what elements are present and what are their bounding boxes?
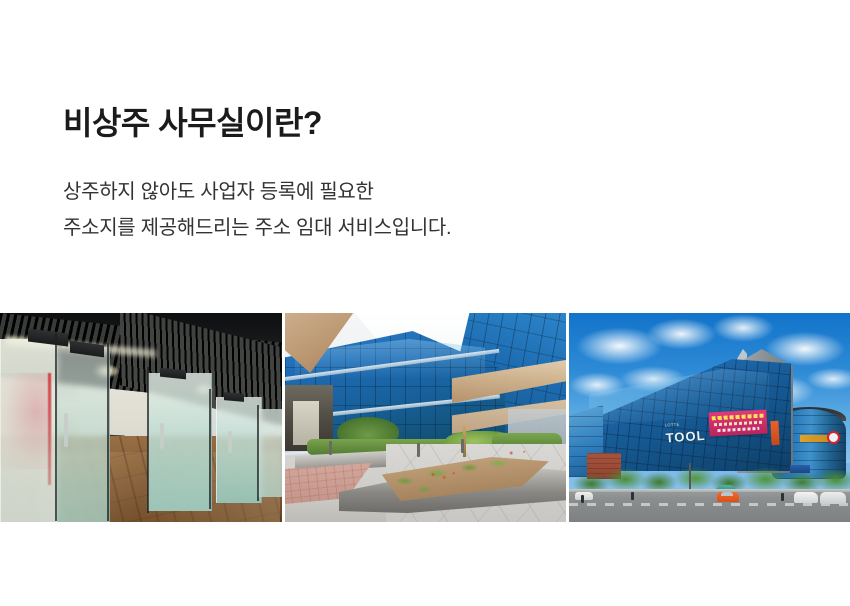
photo3-white-car-1 (794, 492, 818, 503)
intro-description: 상주하지 않아도 사업자 등록에 필요한 주소지를 제공해드리는 주소 임대 서… (63, 143, 763, 246)
photo1-door-handle-2 (160, 423, 164, 449)
intro-description-line-1: 상주하지 않아도 사업자 등록에 필요한 (63, 174, 763, 210)
photo3-road-marking (569, 503, 850, 506)
landing-page-section: 비상주 사무실이란? 상주하지 않아도 사업자 등록에 필요한 주소지를 제공해… (0, 0, 850, 606)
photo1-glass-partition-5 (258, 409, 282, 497)
photo1-mullion-3 (147, 367, 149, 513)
photo2-bollard-2 (417, 443, 420, 457)
photo1-mullion-5 (257, 405, 259, 501)
photo2-red-flowers (425, 469, 465, 483)
photo2-red-flowers-2 (501, 447, 535, 459)
office-interior-photo (0, 313, 282, 522)
photo1-door-header-4 (224, 392, 244, 402)
photo3-taxi-window (721, 492, 733, 496)
office-building-courtyard-photo (285, 313, 566, 522)
photo1-glass-partition-3 (148, 373, 212, 511)
photo1-mullion-4 (209, 389, 211, 509)
photo3-pedestrian-1 (631, 492, 634, 500)
photo1-glass-partition-4 (216, 397, 262, 503)
photo2-bollard-1 (329, 441, 332, 455)
photo3-promo-banner (708, 409, 767, 436)
photo3-pedestrian-2 (581, 495, 584, 503)
photo3-banner-text-line-1 (712, 414, 764, 421)
photo1-red-stripe (48, 373, 51, 485)
office-building-street-photo: LOTTE TOOL (569, 313, 850, 522)
photo3-banner-text-line-2 (714, 421, 762, 427)
intro-text-block: 비상주 사무실이란? 상주하지 않아도 사업자 등록에 필요한 주소지를 제공해… (63, 103, 763, 246)
photo1-door-handle-1 (64, 413, 68, 447)
photo3-banner-text-line-3 (717, 427, 759, 432)
photo3-pedestrian-3 (781, 493, 784, 501)
page-title: 비상주 사무실이란? (63, 103, 763, 143)
photo3-orange-panel (770, 421, 779, 445)
photo3-white-car-3 (575, 492, 593, 500)
photo3-street-sign-post (800, 435, 830, 442)
photo1-pink-reflection (0, 373, 52, 469)
photo-gallery: LOTTE TOOL (0, 313, 850, 522)
photo3-white-car-2 (820, 492, 846, 504)
photo3-blue-sign (790, 465, 810, 473)
photo3-building-sign: LOTTE TOOL (664, 415, 709, 440)
photo3-round-traffic-sign (827, 431, 840, 444)
photo1-mullion-2 (107, 343, 109, 521)
photo1-door-handle-3 (228, 431, 232, 453)
photo2-bollard-3 (461, 439, 464, 453)
photo1-mullion-1 (55, 333, 57, 521)
intro-description-line-2: 주소지를 제공해드리는 주소 임대 서비스입니다. (63, 210, 763, 246)
